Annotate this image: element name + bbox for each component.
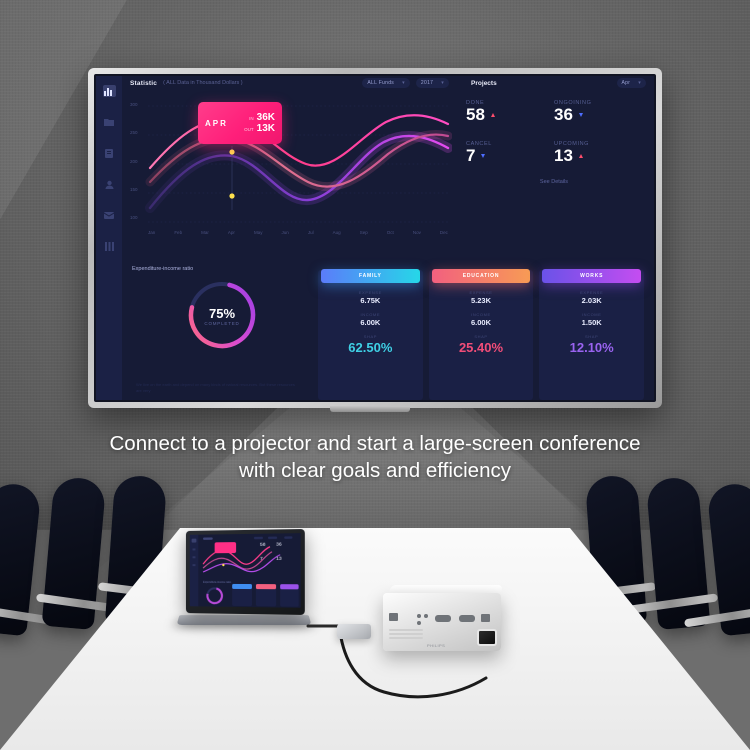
dashboard-lower: Expenditure-income ratio	[122, 260, 654, 400]
laptop-dashboard-mini: Expenditure-income ratio 58 36 7 13	[190, 533, 301, 608]
svg-text:7: 7	[260, 556, 263, 562]
x-tick: Jan	[148, 230, 155, 235]
ratio-status: COMPLETED	[132, 321, 312, 326]
svg-text:13: 13	[276, 556, 282, 562]
stat-value: 58	[466, 106, 485, 125]
dashboard-sidebar	[96, 76, 122, 400]
fund-filter-value: ALL Funds	[367, 80, 394, 86]
card-family[interactable]: FAMILY EXPENSE 6.75K INCOME 6.00K SHAP 6…	[318, 270, 423, 400]
x-tick: May	[254, 230, 263, 235]
card-title: FAMILY	[321, 269, 419, 283]
vent-grill	[389, 633, 423, 635]
display-panel: Statistic ( ALL Data in Thousand Dollars…	[94, 74, 656, 402]
caption-line-1: Connect to a projector and start a large…	[0, 430, 750, 457]
port-vga-1	[435, 615, 451, 622]
tooltip-in-value: 36K	[257, 112, 275, 123]
laptop: Expenditure-income ratio 58 36 7 13	[178, 530, 310, 640]
page-title: Statistic	[130, 80, 157, 87]
expense-label: EXPENSE	[359, 290, 382, 295]
y-tick: 300	[130, 102, 138, 107]
svg-text:58: 58	[260, 542, 266, 548]
chevron-down-icon: ▾	[402, 80, 405, 86]
month-filter-dropdown[interactable]: Apr ▾	[617, 78, 647, 88]
page-subtitle: ( ALL Data in Thousand Dollars )	[163, 80, 243, 86]
analytics-icon[interactable]	[103, 85, 116, 97]
year-filter-value: 2017	[421, 80, 433, 86]
bars-icon[interactable]	[103, 240, 116, 252]
y-tick: 100	[130, 215, 138, 220]
expense-label: EXPENSE	[580, 290, 603, 295]
chevron-down-icon: ▾	[638, 80, 641, 86]
chart-canvas	[122, 90, 452, 240]
card-works[interactable]: WORKS EXPENSE 2.03K INCOME 1.50K SHAP 12…	[539, 270, 644, 400]
projector-body: PHILIPS	[383, 593, 501, 651]
trend-up-icon	[491, 113, 495, 117]
vent-grill	[389, 629, 423, 631]
projects-title: Projects	[471, 80, 497, 87]
expense-label: EXPENSE	[469, 290, 492, 295]
laptop-lid: Expenditure-income ratio 58 36 7 13	[186, 529, 305, 615]
tooltip-out-value: 13K	[257, 123, 275, 134]
stat-value: 7	[466, 147, 475, 166]
shap-value: 25.40%	[459, 340, 503, 355]
x-tick: Mar	[201, 230, 209, 235]
port-video	[417, 621, 421, 625]
stat-ongoing: ONGOINING 36	[554, 100, 642, 125]
dashboard: Statistic ( ALL Data in Thousand Dollars…	[96, 76, 654, 400]
conference-room: Statistic ( ALL Data in Thousand Dollars…	[0, 0, 750, 750]
income-value: 1.50K	[582, 318, 602, 327]
expense-value: 2.03K	[582, 296, 602, 305]
caption: Connect to a projector and start a large…	[0, 430, 750, 485]
y-axis-labels: 300 250 200 150 100	[130, 102, 138, 220]
tooltip-month: APR	[205, 119, 228, 128]
x-tick: Jul	[308, 230, 314, 235]
y-tick: 200	[130, 159, 138, 164]
ratio-panel: Expenditure-income ratio	[132, 266, 312, 400]
stat-cancel: CANCEL 7	[466, 141, 554, 166]
document-icon[interactable]	[103, 147, 116, 159]
dashboard-header: Statistic ( ALL Data in Thousand Dollars…	[122, 76, 654, 90]
expense-value: 6.75K	[360, 296, 380, 305]
projector-brand: PHILIPS	[427, 643, 445, 648]
income-value: 6.00K	[360, 318, 380, 327]
port-audio-1	[417, 614, 421, 618]
stat-value: 13	[554, 147, 573, 166]
dashboard-upper: 300 250 200 150 100 Jan Feb Mar Apr	[122, 90, 654, 260]
y-tick: 250	[130, 130, 138, 135]
tooltip-in-label: IN	[249, 116, 254, 121]
shap-label: SHAP	[474, 334, 487, 339]
mail-icon[interactable]	[103, 209, 116, 221]
large-screen-display: Statistic ( ALL Data in Thousand Dollars…	[88, 68, 662, 408]
dashboard-main: Statistic ( ALL Data in Thousand Dollars…	[122, 76, 654, 400]
see-details-link[interactable]: See Details	[466, 179, 642, 185]
projects-stats: DONE 58 ONGOINING 36 CANCEL 7	[452, 90, 654, 260]
shap-value: 12.10%	[570, 340, 614, 355]
stat-done: DONE 58	[466, 100, 554, 125]
ratio-percent: 75%	[132, 306, 312, 321]
stat-value: 36	[554, 106, 573, 125]
card-education[interactable]: EDUCATION EXPENSE 5.23K INCOME 6.00K SHA…	[429, 270, 534, 400]
x-tick: Apr	[228, 230, 235, 235]
laptop-keyboard-base	[177, 615, 312, 625]
trend-down-icon	[481, 154, 485, 158]
card-title: EDUCATION	[432, 269, 530, 283]
donut-chart: 75% COMPLETED	[132, 276, 312, 354]
x-tick: Oct	[387, 230, 394, 235]
caption-line-2: with clear goals and efficiency	[0, 457, 750, 484]
shap-label: SHAP	[585, 334, 598, 339]
shap-value: 62.50%	[348, 340, 392, 355]
x-tick: Feb	[174, 230, 182, 235]
card-title: WORKS	[542, 269, 640, 283]
chevron-down-icon: ▾	[441, 80, 444, 86]
tooltip-out-label: OUT	[244, 127, 254, 132]
year-filter-dropdown[interactable]: 2017 ▾	[416, 78, 449, 88]
ratio-title: Expenditure-income ratio	[132, 266, 312, 272]
user-icon[interactable]	[103, 178, 116, 190]
income-label: INCOME	[582, 312, 602, 317]
chart-tooltip: APR IN 36K OUT 13K	[198, 102, 282, 144]
projector-lens	[477, 629, 497, 646]
port-power	[389, 613, 398, 621]
month-filter-value: Apr	[622, 80, 631, 86]
x-tick: Dec	[440, 230, 448, 235]
projector: PHILIPS	[383, 583, 511, 663]
fund-filter-dropdown[interactable]: ALL Funds ▾	[362, 78, 410, 88]
income-value: 6.00K	[471, 318, 491, 327]
svg-text:Expenditure-income ratio: Expenditure-income ratio	[203, 580, 231, 584]
usb-c-adapter	[337, 624, 371, 639]
shap-label: SHAP	[364, 334, 377, 339]
expense-value: 5.23K	[471, 296, 491, 305]
income-label: INCOME	[361, 312, 381, 317]
port-audio-2	[424, 614, 428, 618]
stat-upcoming: UPCOMING 13	[554, 141, 642, 166]
category-cards: FAMILY EXPENSE 6.75K INCOME 6.00K SHAP 6…	[318, 266, 644, 400]
port-lan	[481, 614, 490, 622]
x-tick: Jun	[282, 230, 289, 235]
x-tick: Sep	[360, 230, 368, 235]
income-label: INCOME	[471, 312, 491, 317]
folder-icon[interactable]	[103, 116, 116, 128]
laptop-screen: Expenditure-income ratio 58 36 7 13	[190, 533, 301, 608]
vent-grill	[389, 637, 423, 639]
port-vga-2	[459, 615, 475, 622]
trend-up-icon	[579, 154, 583, 158]
ratio-note: We live on the earth and depend on many …	[136, 382, 296, 394]
x-tick: Aug	[333, 230, 341, 235]
line-chart: 300 250 200 150 100 Jan Feb Mar Apr	[122, 90, 452, 260]
trend-down-icon	[579, 113, 583, 117]
y-tick: 150	[130, 187, 138, 192]
svg-text:36: 36	[276, 541, 282, 547]
x-axis-labels: Jan Feb Mar Apr May Jun Jul Aug Sep Oct	[148, 230, 448, 235]
x-tick: Nov	[413, 230, 421, 235]
display-stand	[330, 406, 410, 412]
